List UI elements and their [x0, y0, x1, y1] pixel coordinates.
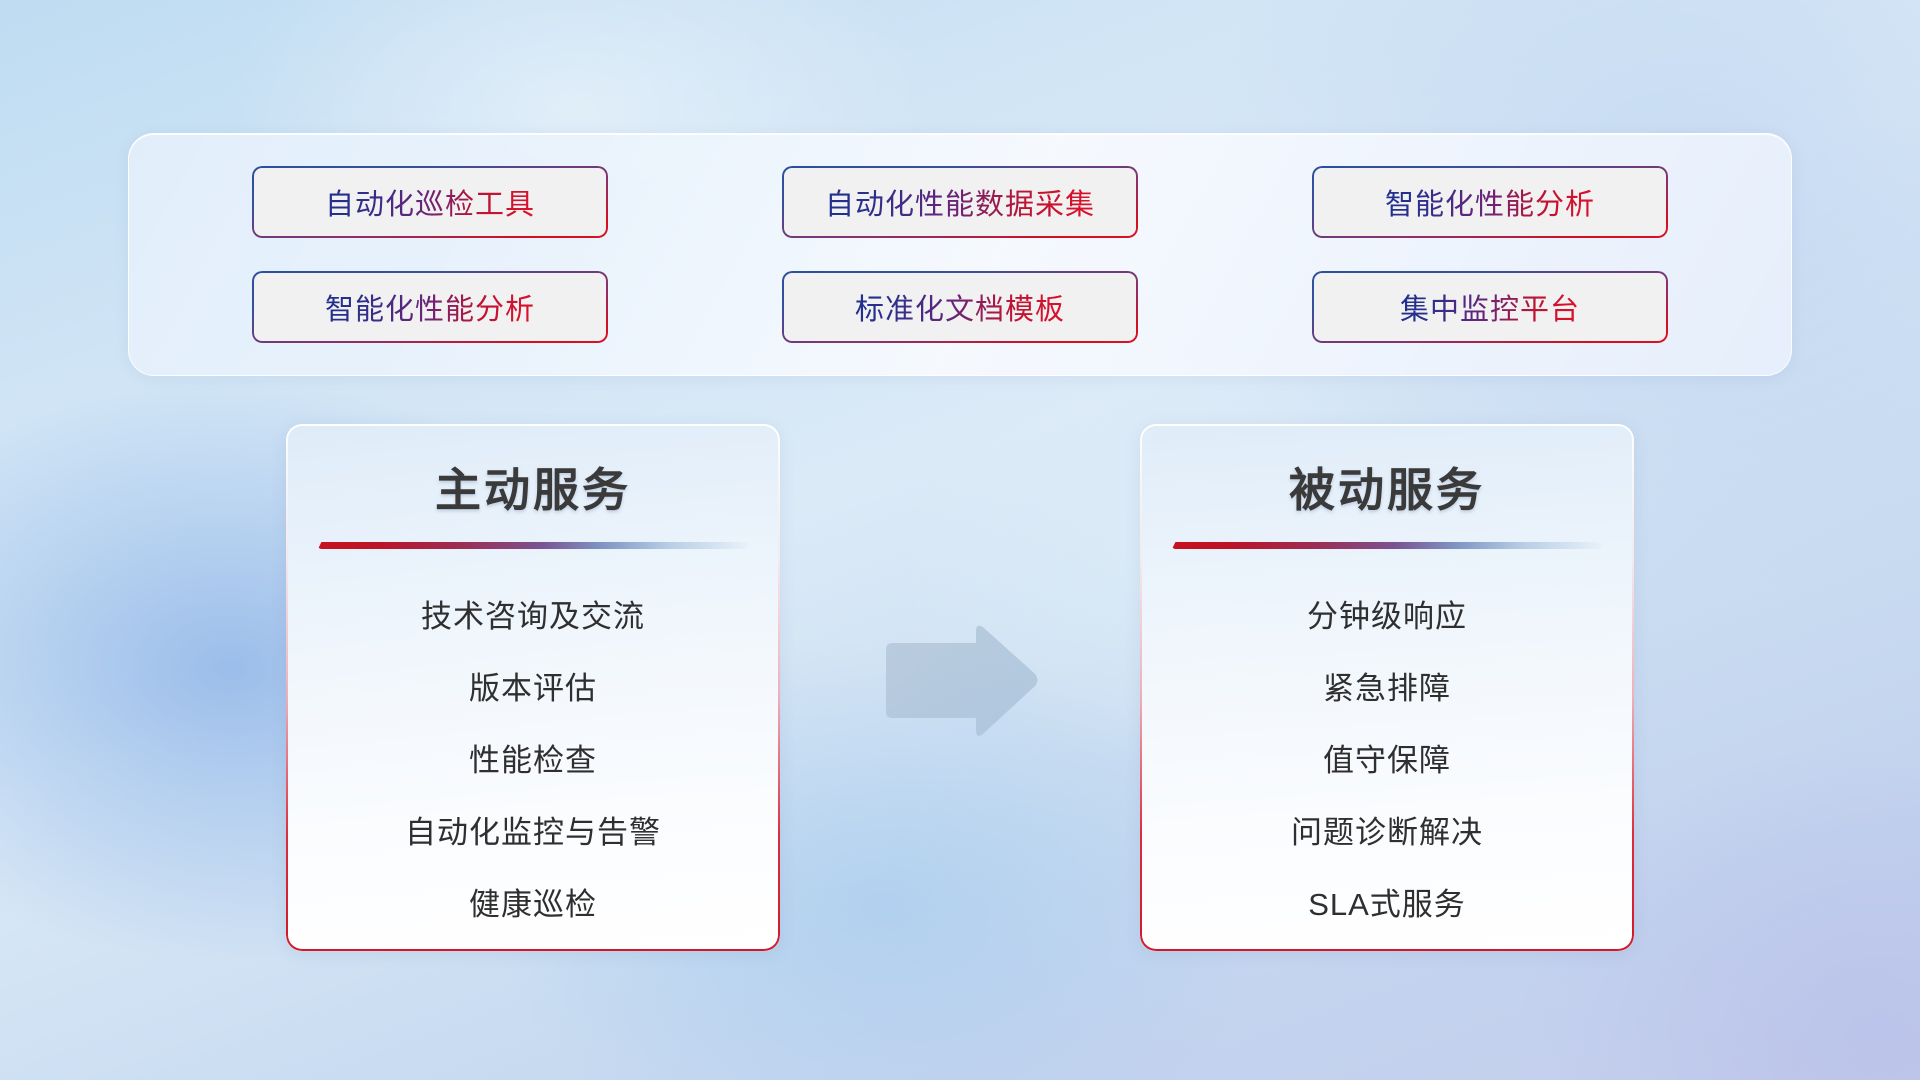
- list-item[interactable]: SLA式服务: [1140, 865, 1634, 937]
- capability-pill[interactable]: 标准化文档模板: [782, 271, 1138, 343]
- list-item[interactable]: 分钟级响应: [1140, 577, 1634, 649]
- list-item[interactable]: 问题诊断解决: [1140, 793, 1634, 865]
- capability-pill[interactable]: 智能化性能分析: [1312, 166, 1668, 238]
- list-item[interactable]: 健康巡检: [286, 865, 780, 937]
- flow-arrow: [880, 622, 1042, 742]
- card-title-underline: [1172, 542, 1602, 549]
- capability-pill-label: 标准化文档模板: [855, 286, 1065, 328]
- service-item-list: 技术咨询及交流 版本评估 性能检查 自动化监控与告警 健康巡检: [286, 577, 780, 937]
- service-card-reactive: 被动服务 分钟级响应 紧急排障 值守保障 问题诊断解决 SLA式服务: [1140, 424, 1634, 951]
- capability-pill-label: 智能化性能分析: [1385, 181, 1595, 223]
- capability-pill[interactable]: 集中监控平台: [1312, 271, 1668, 343]
- card-title-underline: [318, 542, 748, 549]
- capability-pill-grid: 自动化巡检工具 自动化性能数据采集 智能化性能分析 智能化性能分析 标准化文档模…: [129, 134, 1791, 375]
- card-title: 主动服务: [435, 454, 631, 520]
- capability-pill-label: 自动化巡检工具: [325, 181, 535, 223]
- capability-pill-label: 自动化性能数据采集: [825, 181, 1095, 223]
- list-item[interactable]: 值守保障: [1140, 721, 1634, 793]
- card-title: 被动服务: [1289, 454, 1485, 520]
- capability-pill[interactable]: 自动化巡检工具: [252, 166, 608, 238]
- card-inner: 主动服务 技术咨询及交流 版本评估 性能检查 自动化监控与告警 健康巡检: [286, 424, 780, 951]
- card-inner: 被动服务 分钟级响应 紧急排障 值守保障 问题诊断解决 SLA式服务: [1140, 424, 1634, 951]
- list-item[interactable]: 性能检查: [286, 721, 780, 793]
- list-item[interactable]: 技术咨询及交流: [286, 577, 780, 649]
- right-arrow-icon: [880, 622, 1042, 742]
- list-item[interactable]: 自动化监控与告警: [286, 793, 780, 865]
- capability-pill-label: 集中监控平台: [1400, 286, 1580, 328]
- capability-pill-label: 智能化性能分析: [325, 286, 535, 328]
- capability-panel: 自动化巡检工具 自动化性能数据采集 智能化性能分析 智能化性能分析 标准化文档模…: [128, 133, 1792, 376]
- capability-pill[interactable]: 智能化性能分析: [252, 271, 608, 343]
- capability-pill[interactable]: 自动化性能数据采集: [782, 166, 1138, 238]
- list-item[interactable]: 版本评估: [286, 649, 780, 721]
- service-card-proactive: 主动服务 技术咨询及交流 版本评估 性能检查 自动化监控与告警 健康巡检: [286, 424, 780, 951]
- list-item[interactable]: 紧急排障: [1140, 649, 1634, 721]
- service-item-list: 分钟级响应 紧急排障 值守保障 问题诊断解决 SLA式服务: [1140, 577, 1634, 937]
